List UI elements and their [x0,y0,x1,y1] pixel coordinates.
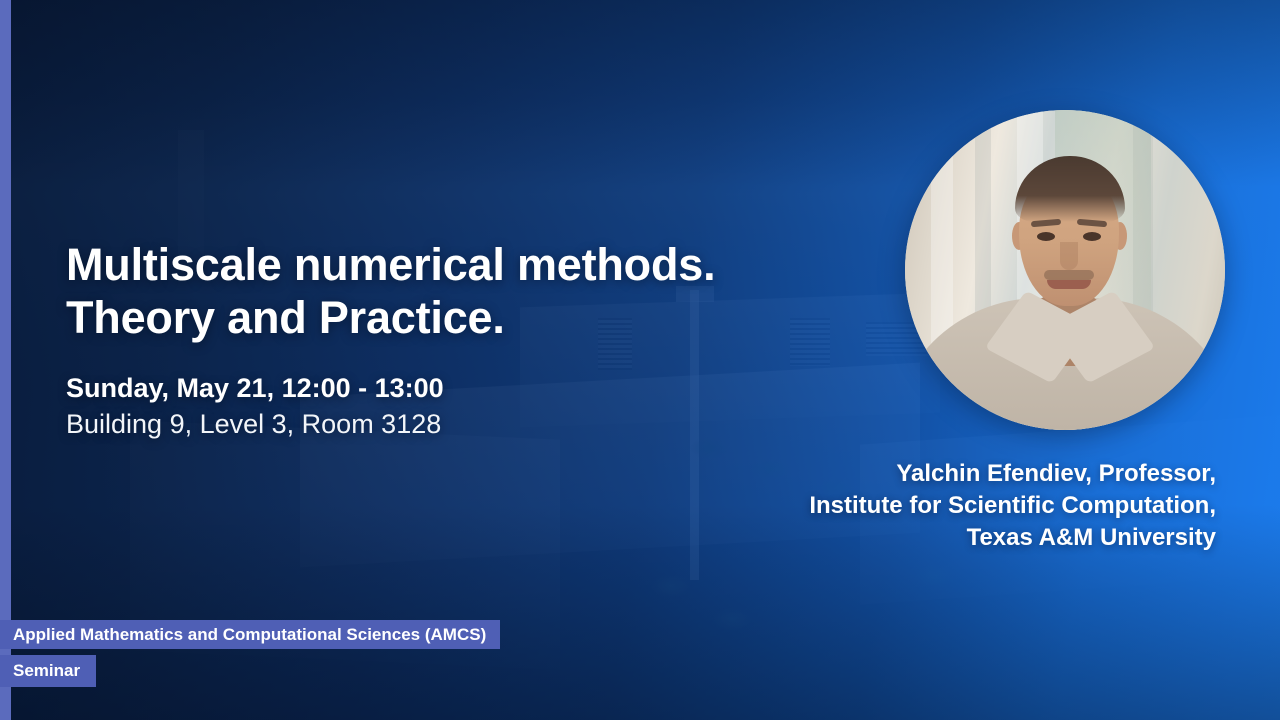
speaker-institute: Institute for Scientific Computation, [596,490,1216,522]
seminar-datetime: Sunday, May 21, 12:00 - 13:00 [66,370,444,406]
department-tag-label: Applied Mathematics and Computational Sc… [13,625,486,645]
event-kind-tag-label: Seminar [13,661,80,681]
seminar-announcement-slide: Multiscale numerical methods. Theory and… [0,0,1280,720]
speaker-name-title: Yalchin Efendiev, Professor, [596,458,1216,490]
speaker-university: Texas A&M University [596,522,1216,554]
event-kind-tag: Seminar [0,655,96,687]
seminar-title-line-2: Theory and Practice. [66,291,826,344]
slide-content: Multiscale numerical methods. Theory and… [0,0,1280,720]
seminar-title: Multiscale numerical methods. Theory and… [66,238,826,344]
seminar-location: Building 9, Level 3, Room 3128 [66,406,441,442]
seminar-title-line-1: Multiscale numerical methods. [66,238,826,291]
department-tag: Applied Mathematics and Computational Sc… [0,620,500,649]
speaker-details: Yalchin Efendiev, Professor, Institute f… [596,458,1216,554]
